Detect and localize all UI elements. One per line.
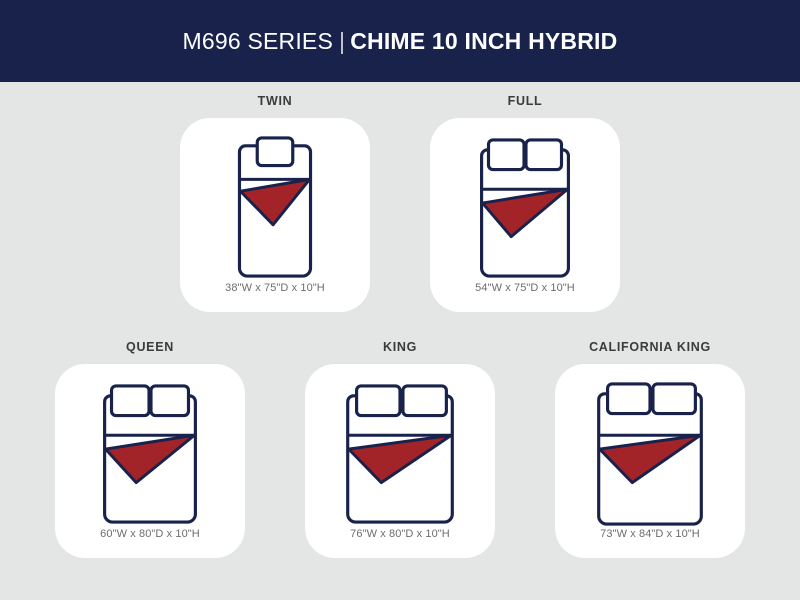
mattress-size-grid: TWIN 38"W x 75"D x 10"H FULL bbox=[0, 82, 800, 600]
bed-queen-icon bbox=[90, 380, 210, 528]
size-row-bottom: QUEEN 60"W x 80"D x 10"H KING bbox=[0, 340, 800, 558]
bed-twin-icon bbox=[225, 134, 325, 282]
size-cell-full: FULL 54"W x 75"D x 10"H bbox=[400, 94, 650, 312]
size-name-california-king: CALIFORNIA KING bbox=[589, 340, 711, 354]
size-dimensions-king: 76"W x 80"D x 10"H bbox=[350, 528, 450, 540]
size-name-twin: TWIN bbox=[258, 94, 293, 108]
page-title: M696 SERIES|CHIME 10 INCH HYBRID bbox=[183, 30, 618, 53]
size-dimensions-california-king: 73"W x 84"D x 10"H bbox=[600, 528, 700, 540]
size-name-king: KING bbox=[383, 340, 417, 354]
size-card-full[interactable]: 54"W x 75"D x 10"H bbox=[430, 118, 620, 312]
size-cell-twin: TWIN 38"W x 75"D x 10"H bbox=[150, 94, 400, 312]
bed-california-king-icon bbox=[584, 380, 716, 528]
bed-king-icon bbox=[333, 380, 467, 528]
size-dimensions-full: 54"W x 75"D x 10"H bbox=[475, 282, 575, 294]
size-cell-california-king: CALIFORNIA KING 73"W x 84"D x 10"H bbox=[525, 340, 775, 558]
size-dimensions-queen: 60"W x 80"D x 10"H bbox=[100, 528, 200, 540]
size-name-queen: QUEEN bbox=[126, 340, 174, 354]
size-cell-king: KING 76"W x 80"D x 10"H bbox=[275, 340, 525, 558]
size-row-top: TWIN 38"W x 75"D x 10"H FULL bbox=[0, 94, 800, 312]
size-name-full: FULL bbox=[508, 94, 543, 108]
bed-full-icon bbox=[467, 134, 583, 282]
series-label: M696 SERIES bbox=[183, 28, 334, 54]
size-card-queen[interactable]: 60"W x 80"D x 10"H bbox=[55, 364, 245, 558]
model-label: CHIME 10 INCH HYBRID bbox=[350, 28, 617, 54]
header-bar: M696 SERIES|CHIME 10 INCH HYBRID bbox=[0, 0, 800, 82]
title-divider: | bbox=[339, 28, 345, 54]
size-card-twin[interactable]: 38"W x 75"D x 10"H bbox=[180, 118, 370, 312]
size-dimensions-twin: 38"W x 75"D x 10"H bbox=[225, 282, 325, 294]
size-cell-queen: QUEEN 60"W x 80"D x 10"H bbox=[25, 340, 275, 558]
size-card-california-king[interactable]: 73"W x 84"D x 10"H bbox=[555, 364, 745, 558]
size-card-king[interactable]: 76"W x 80"D x 10"H bbox=[305, 364, 495, 558]
